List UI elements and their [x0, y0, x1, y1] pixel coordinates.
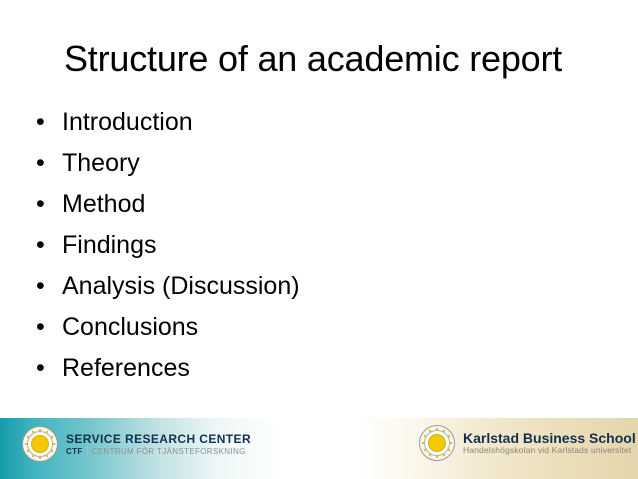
- bullet-marker-icon: •: [36, 315, 62, 340]
- list-item-label: Conclusions: [62, 315, 596, 340]
- bullet-marker-icon: •: [36, 356, 62, 381]
- bullet-marker-icon: •: [36, 233, 62, 258]
- bullet-marker-icon: •: [36, 110, 62, 135]
- bullet-marker-icon: •: [36, 274, 62, 299]
- list-item-label: Theory: [62, 151, 596, 176]
- list-item-label: Analysis (Discussion): [62, 274, 596, 299]
- logo-service-research-center: SERVICE RESEARCH CENTER CTF CENTRUM FÖR …: [22, 426, 251, 462]
- sun-seal-icon: [22, 426, 58, 462]
- list-item: • Method: [36, 192, 596, 233]
- bullet-marker-icon: •: [36, 151, 62, 176]
- list-item-label: Method: [62, 192, 596, 217]
- logo-subtitle: CTF CENTRUM FÖR TJÄNSTEFORSKNING: [66, 446, 251, 457]
- list-item: • Findings: [36, 233, 596, 274]
- list-item-label: References: [62, 356, 596, 381]
- logo-karlstad-business-school: Karlstad Business School Handelshögskola…: [419, 425, 636, 461]
- logo-text-block: Karlstad Business School Handelshögskola…: [463, 431, 636, 456]
- logo-subtitle: Handelshögskolan vid Karlstads universit…: [463, 445, 636, 456]
- bullet-list: • Introduction • Theory • Method • Findi…: [36, 110, 596, 397]
- list-item: • Conclusions: [36, 315, 596, 356]
- list-item: • Analysis (Discussion): [36, 274, 596, 315]
- logo-sub-text: Handelshögskolan vid Karlstads universit…: [463, 445, 631, 456]
- list-item: • References: [36, 356, 596, 397]
- list-item: • Theory: [36, 151, 596, 192]
- logo-sub-divider: [87, 447, 88, 455]
- logo-title: Karlstad Business School: [463, 431, 636, 445]
- list-item-label: Findings: [62, 233, 596, 258]
- logo-sub-code: CTF: [66, 446, 83, 457]
- logo-sub-text: CENTRUM FÖR TJÄNSTEFORSKNING: [92, 446, 246, 457]
- page-title: Structure of an academic report: [64, 38, 584, 80]
- list-item: • Introduction: [36, 110, 596, 151]
- logo-text-block: SERVICE RESEARCH CENTER CTF CENTRUM FÖR …: [66, 432, 251, 457]
- list-item-label: Introduction: [62, 110, 596, 135]
- bullet-marker-icon: •: [36, 192, 62, 217]
- logo-title: SERVICE RESEARCH CENTER: [66, 432, 251, 446]
- slide-canvas: Structure of an academic report • Introd…: [0, 0, 638, 479]
- sun-seal-icon: [419, 425, 455, 461]
